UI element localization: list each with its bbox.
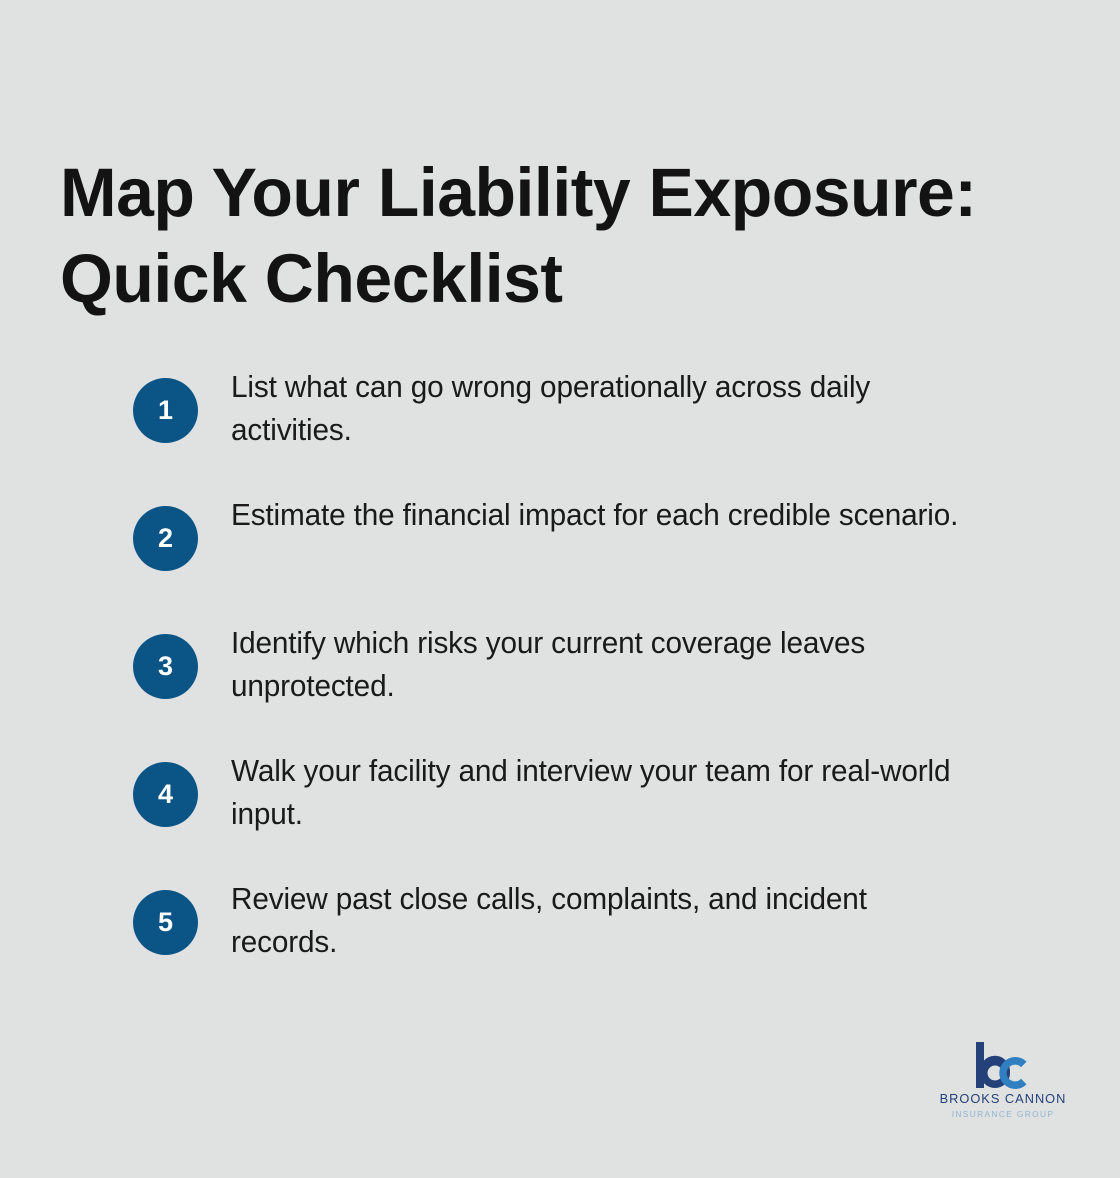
brand-logo: BROOKS CANNON INSURANCE GROUP — [928, 1036, 1078, 1120]
list-item: 5 Review past close calls, complaints, a… — [133, 878, 993, 966]
step-text: Walk your facility and interview your te… — [231, 750, 972, 836]
step-text: Estimate the financial impact for each c… — [231, 494, 972, 537]
step-number-badge: 4 — [133, 762, 198, 827]
bc-monogram-icon — [928, 1036, 1078, 1090]
step-text: List what can go wrong operationally acr… — [231, 366, 972, 452]
step-number-badge: 3 — [133, 634, 198, 699]
step-text: Identify which risks your current covera… — [231, 622, 972, 708]
logo-tagline: INSURANCE GROUP — [928, 1109, 1078, 1120]
page-title: Map Your Liability Exposure: Quick Check… — [60, 150, 1006, 321]
list-item: 2 Estimate the financial impact for each… — [133, 494, 993, 582]
step-number-badge: 5 — [133, 890, 198, 955]
poster-canvas: Map Your Liability Exposure: Quick Check… — [0, 0, 1120, 1178]
logo-company-name: BROOKS CANNON — [928, 1092, 1078, 1107]
step-text: Review past close calls, complaints, and… — [231, 878, 972, 964]
list-item: 4 Walk your facility and interview your … — [133, 750, 993, 838]
step-number-badge: 2 — [133, 506, 198, 571]
list-item: 1 List what can go wrong operationally a… — [133, 366, 993, 454]
list-item: 3 Identify which risks your current cove… — [133, 622, 993, 710]
checklist: 1 List what can go wrong operationally a… — [133, 366, 993, 966]
step-number-badge: 1 — [133, 378, 198, 443]
